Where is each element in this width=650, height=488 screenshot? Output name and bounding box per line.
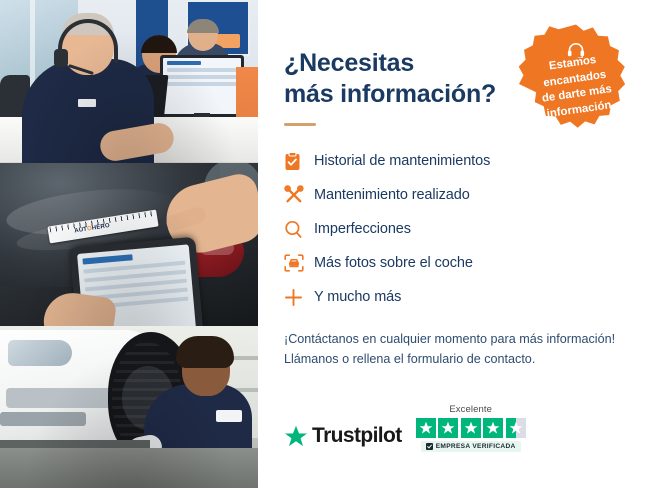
verified-company-badge: EMPRESA VERIFICADA — [421, 441, 521, 452]
magnifier-icon — [284, 218, 314, 240]
wrench-screwdriver-icon — [284, 184, 314, 206]
list-item: Más fotos sobre el coche — [284, 246, 624, 280]
photo-vignette — [0, 163, 258, 326]
content-panel: ¿Necesitas más información? Historial de… — [258, 0, 650, 488]
trustpilot-star-icon — [284, 425, 308, 448]
headline-line-1: ¿Necesitas — [284, 49, 414, 77]
feature-label: Más fotos sobre el coche — [314, 255, 473, 271]
list-item: Historial de mantenimientos — [284, 144, 624, 178]
contact-text: ¡Contáctanos en cualquier momento para m… — [284, 330, 624, 369]
photo-mechanic-inspecting-wheel — [0, 326, 258, 488]
photo-vehicle-inspection-ruler-tablet: AUTOHERO — [0, 163, 258, 326]
car-scan-frame-icon — [284, 252, 314, 274]
star-1 — [416, 418, 436, 438]
photo-vignette — [0, 0, 258, 163]
contact-line-1: ¡Contáctanos en cualquier momento para m… — [284, 330, 624, 350]
trustpilot-widget[interactable]: Trustpilot Excelente — [284, 404, 624, 452]
list-item: Y mucho más — [284, 280, 624, 314]
status-badge: Estamos encantados de darte más informac… — [514, 22, 638, 146]
info-banner: AUTOHERO — [0, 0, 650, 488]
feature-label: Historial de mantenimientos — [314, 153, 490, 169]
feature-label: Mantenimiento realizado — [314, 187, 470, 203]
trustpilot-brand: Trustpilot — [312, 424, 402, 448]
star-4 — [483, 418, 503, 438]
star-5-half — [506, 418, 526, 438]
verified-label: EMPRESA VERIFICADA — [436, 443, 516, 450]
list-item: Imperfecciones — [284, 212, 624, 246]
feature-label: Imperfecciones — [314, 221, 411, 237]
trustpilot-logo[interactable]: Trustpilot — [284, 424, 402, 452]
trustpilot-rating-block: Excelente — [416, 404, 526, 452]
feature-label: Y mucho más — [314, 289, 401, 305]
plus-icon — [284, 286, 314, 308]
rating-label: Excelente — [449, 404, 492, 415]
list-item: Mantenimiento realizado — [284, 178, 624, 212]
title-divider — [284, 123, 316, 126]
star-2 — [438, 418, 458, 438]
photo-call-center-agent-with-headset — [0, 0, 258, 163]
star-rating — [416, 418, 526, 438]
photo-vignette — [0, 326, 258, 488]
verified-check-icon — [426, 443, 433, 450]
checklist-document-icon — [284, 150, 314, 172]
contact-line-2: Llámanos o rellena el formulario de cont… — [284, 350, 624, 370]
star-3 — [461, 418, 481, 438]
feature-list: Historial de mantenimientos Mantenimient… — [284, 144, 624, 314]
photo-column: AUTOHERO — [0, 0, 258, 488]
